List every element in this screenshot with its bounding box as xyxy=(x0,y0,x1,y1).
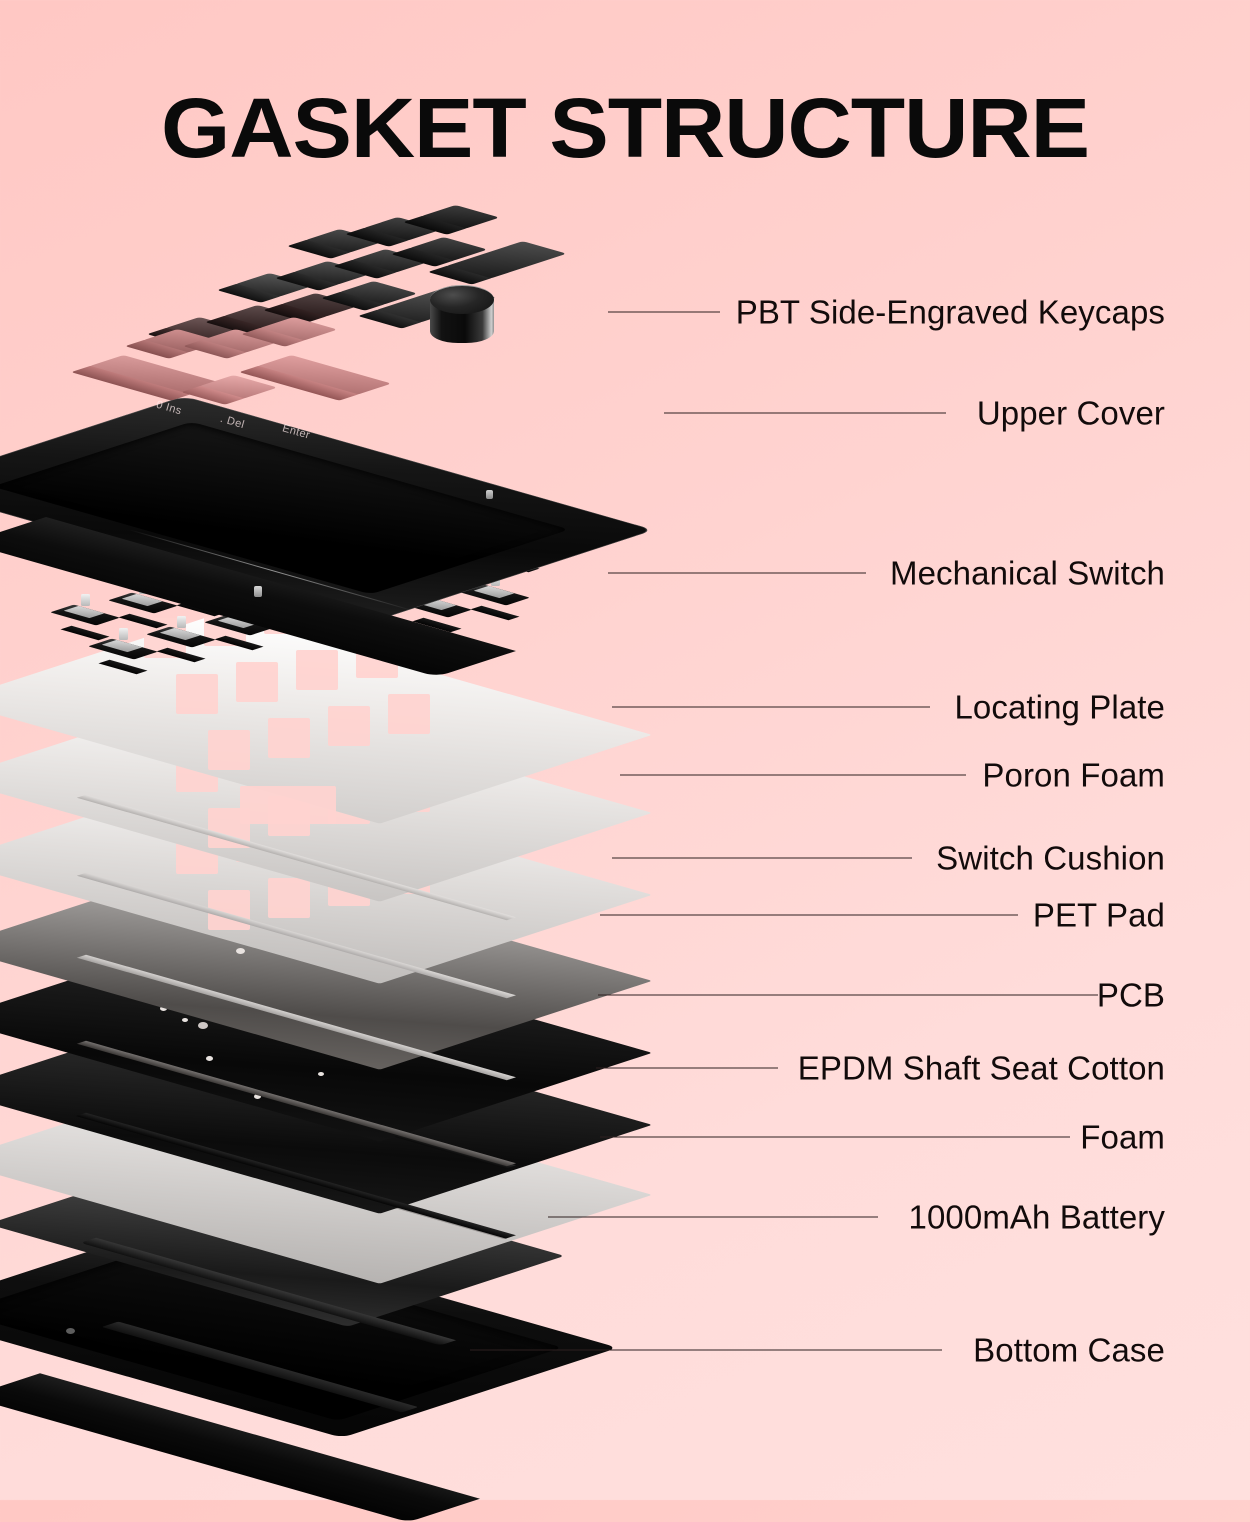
callout-label-upper-cover: Upper Cover xyxy=(977,397,1165,430)
mechanical-switch xyxy=(158,618,204,652)
callout-label-foam: Foam xyxy=(1080,1121,1165,1154)
leader-line-epdm xyxy=(596,1068,778,1069)
keycap xyxy=(421,205,500,229)
mechanical-switch xyxy=(100,630,146,664)
callout-label-poron-foam: Poron Foam xyxy=(982,759,1165,792)
leader-line-switch xyxy=(608,573,866,574)
exploded-keyboard-illustration: 0 Ins . Del Enter xyxy=(0,170,720,1460)
keycap-legend-enter: Enter xyxy=(281,422,312,441)
leader-line-pcb xyxy=(598,995,1098,996)
leader-line-battery xyxy=(548,1217,878,1218)
diagram-canvas: GASKET STRUCTURE xyxy=(0,0,1250,1500)
callout-label-mechanical-switch: Mechanical Switch xyxy=(890,557,1165,590)
leader-line-foam xyxy=(600,1137,1070,1138)
keycap-legend-ins: 0 Ins xyxy=(155,399,183,418)
page-title: GASKET STRUCTURE xyxy=(0,86,1250,170)
leader-line-keycaps xyxy=(608,312,720,313)
keycap-enter xyxy=(257,355,392,395)
callout-label-locating-plate: Locating Plate xyxy=(954,691,1165,724)
leader-line-cushion xyxy=(612,858,912,859)
callout-label-switch-cushion: Switch Cushion xyxy=(936,842,1165,875)
callout-label-epdm: EPDM Shaft Seat Cotton xyxy=(798,1052,1165,1085)
leader-line-pet xyxy=(600,915,1018,916)
mechanical-switch xyxy=(62,596,108,630)
leader-line-bottom xyxy=(470,1350,942,1351)
callout-label-pcb: PCB xyxy=(1097,979,1165,1012)
rotary-knob[interactable] xyxy=(430,285,494,347)
leader-line-cover xyxy=(664,413,946,414)
leader-line-plate xyxy=(612,707,930,708)
leader-line-poron xyxy=(620,775,966,776)
callout-label-battery: 1000mAh Battery xyxy=(909,1201,1165,1234)
layer-keycaps: 0 Ins . Del Enter xyxy=(60,210,620,460)
callout-label-bottom-case: Bottom Case xyxy=(973,1334,1165,1367)
keycap-legend-del: . Del xyxy=(219,413,246,431)
callout-label-keycaps: PBT Side-Engraved Keycaps xyxy=(736,296,1165,329)
callout-label-pet-pad: PET Pad xyxy=(1033,899,1165,932)
